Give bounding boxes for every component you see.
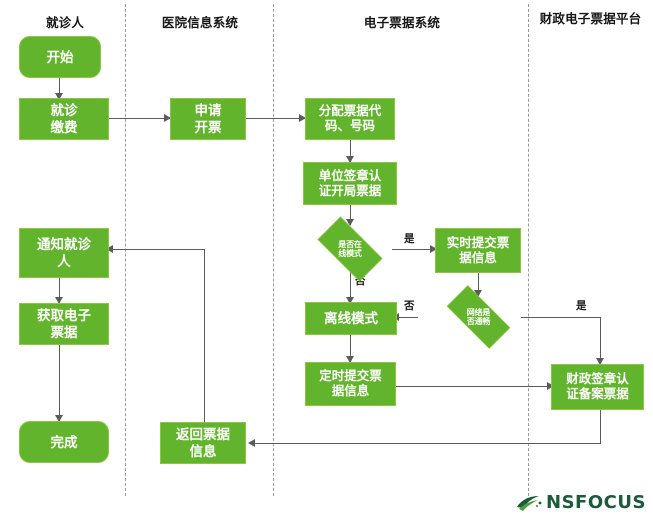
connector-apply-to-assign — [245, 118, 305, 119]
node-apply[interactable]: 申请 开票 — [170, 98, 246, 140]
node-obtain[interactable]: 获取电子 票据 — [19, 303, 109, 345]
connector-return-to-notify-h — [113, 249, 205, 250]
nsfocus-wordmark: NSFOCUS — [546, 492, 646, 513]
connector-timed-to-fiscal — [396, 386, 551, 387]
connector-netok-no — [398, 317, 418, 318]
node-realtime-submit-label: 实时提交票 据信息 — [447, 236, 510, 266]
lane-divider-3 — [528, 4, 529, 496]
nsfocus-logo: NSFOCUS — [516, 492, 646, 513]
node-pay[interactable]: 就诊 缴费 — [19, 98, 109, 140]
node-timed-submit[interactable]: 定时提交票 据信息 — [305, 362, 396, 406]
node-return-info[interactable]: 返回票据 信息 — [160, 422, 246, 464]
node-offline-mode[interactable]: 离线模式 — [305, 302, 397, 335]
node-assign-code[interactable]: 分配票据代 码、号码 — [305, 98, 395, 140]
connector-fiscal-to-return-h — [255, 443, 601, 444]
node-timed-submit-label: 定时提交票 据信息 — [319, 369, 382, 399]
node-is-online[interactable]: 是否在 线模式 — [308, 226, 392, 272]
node-net-ok-label: 网络是 否通畅 — [436, 296, 521, 338]
node-fiscal-sign[interactable]: 财政签章认 证备案票据 — [551, 364, 644, 410]
lane-divider-1 — [125, 4, 126, 496]
node-fiscal-sign-label: 财政签章认 证备案票据 — [566, 372, 629, 402]
connector-return-to-notify-v — [204, 249, 205, 431]
node-realtime-submit[interactable]: 实时提交票 据信息 — [435, 228, 521, 273]
connector-pay-to-apply — [108, 118, 170, 119]
node-assign-code-label: 分配票据代 码、号码 — [319, 104, 382, 134]
connector-netok-yes-v — [600, 317, 601, 362]
edge-label-net-yes: 是 — [576, 300, 587, 312]
nsfocus-mark-icon — [516, 494, 542, 512]
node-start[interactable]: 开始 — [19, 36, 101, 78]
node-notify-label: 通知就诊 人 — [37, 236, 91, 270]
lane-header-ebill: 电子票据系统 — [280, 16, 524, 30]
connector-isonline-yes — [392, 249, 435, 250]
connector-fiscal-to-return-v — [600, 410, 601, 444]
lane-header-his: 医院信息系统 — [130, 16, 270, 30]
node-notify[interactable]: 通知就诊 人 — [19, 228, 109, 278]
node-net-ok[interactable]: 网络是 否通畅 — [436, 296, 521, 338]
arrowhead-fiscal-to-return — [248, 439, 255, 447]
node-apply-label: 申请 开票 — [195, 102, 222, 136]
node-unit-sign-label: 单位签章认 证开局票据 — [319, 169, 382, 199]
connector-obtain-to-finish — [59, 345, 60, 421]
node-obtain-label: 获取电子 票据 — [37, 307, 91, 341]
edge-label-net-no: 否 — [404, 300, 415, 312]
node-pay-label: 就诊 缴费 — [51, 102, 78, 136]
lane-header-finance: 财政电子票据平台 — [533, 12, 648, 26]
node-return-info-label: 返回票据 信息 — [176, 426, 230, 460]
flowchart-canvas: 就诊人 医院信息系统 电子票据系统 财政电子票据平台 — [0, 0, 653, 523]
node-is-online-label: 是否在 线模式 — [308, 226, 392, 272]
edge-label-online-yes: 是 — [404, 233, 415, 245]
lane-header-patient: 就诊人 — [10, 16, 120, 30]
lane-divider-2 — [273, 4, 274, 496]
node-unit-sign[interactable]: 单位签章认 证开局票据 — [303, 162, 397, 205]
connector-netok-yes-h — [521, 317, 601, 318]
node-finish[interactable]: 完成 — [19, 421, 109, 463]
